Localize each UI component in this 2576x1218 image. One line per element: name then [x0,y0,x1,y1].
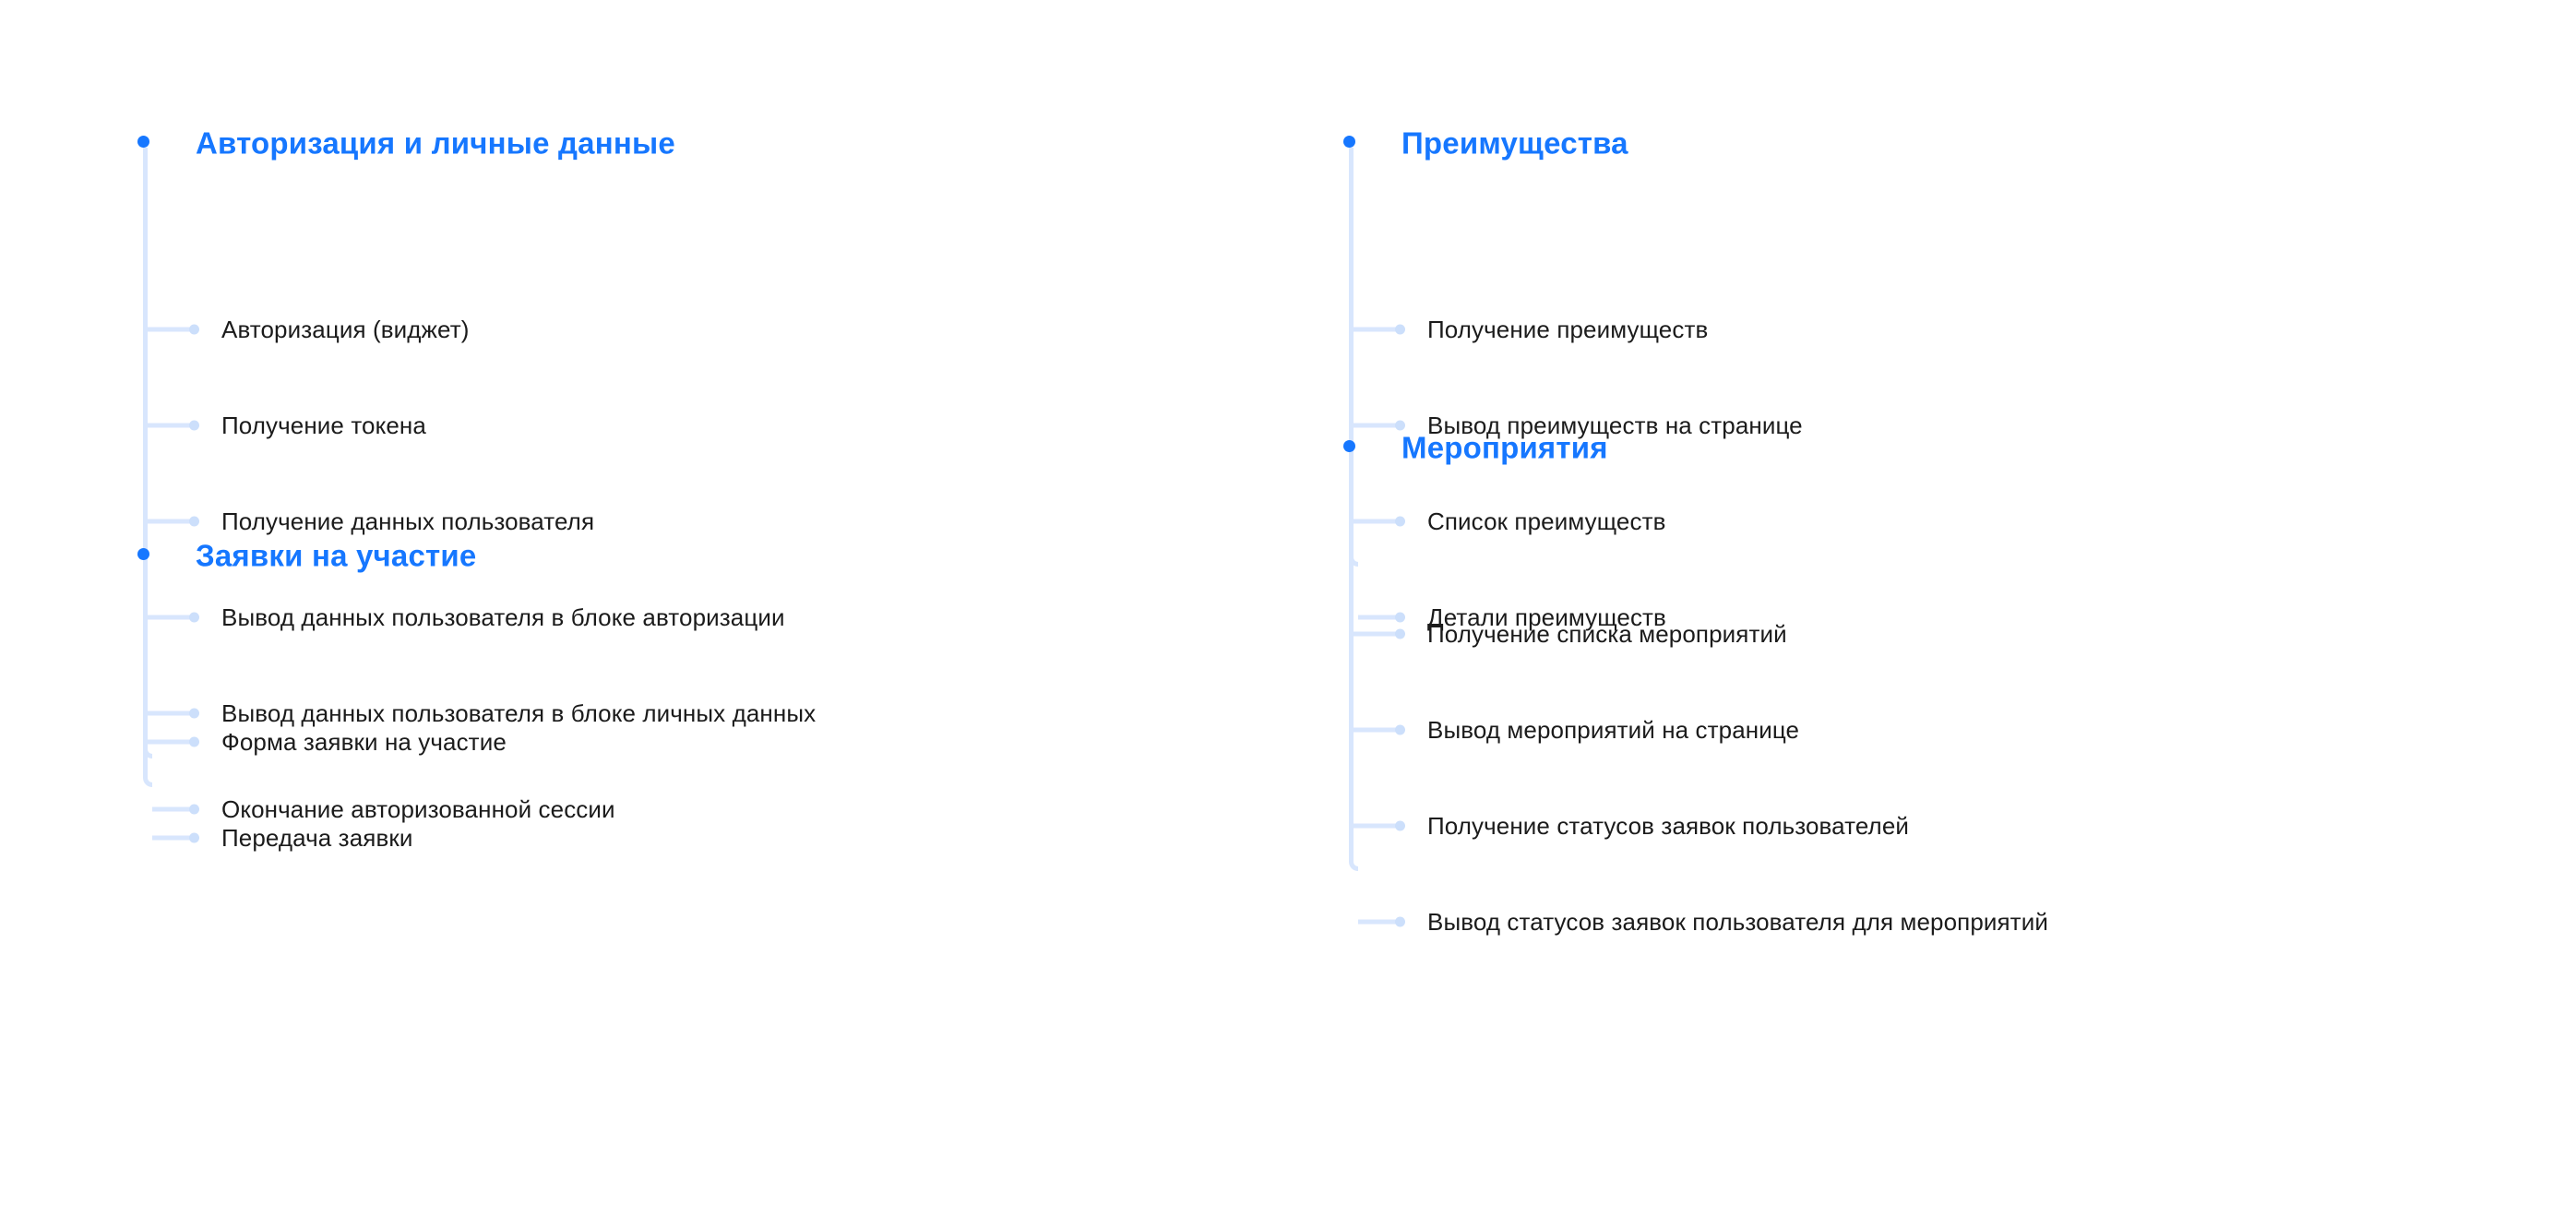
item-dot-icon [189,517,199,527]
group-title: Заявки на участие [196,541,476,571]
item-dot-icon [1395,917,1405,927]
item-dot-icon [189,737,199,747]
item-dot-icon [189,805,199,815]
item-dot-icon [1395,421,1405,431]
item-connector-line [143,711,195,716]
item-label: Список преимуществ [1427,509,1666,533]
item-dot-icon [1395,629,1405,639]
item-dot-icon [1395,325,1405,335]
item-label: Вывод мероприятий на странице [1427,718,1799,742]
item-connector-line [143,424,195,428]
item-dot-icon [189,325,199,335]
item-dot-icon [189,421,199,431]
item-label: Вывод данных пользователя в блоке личных… [221,701,816,725]
item-label: Получение списка мероприятий [1427,622,1787,646]
group-title: Авторизация и личные данные [196,128,675,159]
outline-board: Авторизация и личные данныеАвторизация (… [0,0,2576,1218]
item-dot-icon [1395,725,1405,735]
item-label: Получение данных пользователя [221,509,594,533]
item-connector-line [143,740,195,745]
item-dot-icon [1395,517,1405,527]
item-dot-icon [189,833,199,843]
bullet-icon [137,548,149,560]
item-connector-line [1349,424,1401,428]
item-label: Получение статусов заявок пользователей [1427,814,1909,838]
item-connector-line [143,328,195,332]
bullet-icon [137,136,149,148]
tree-trunk-line [1349,452,1354,855]
group-title: Преимущества [1401,128,1628,159]
item-connector-line [143,615,195,620]
bullet-icon [1343,136,1355,148]
item-connector-line [1349,519,1401,524]
item-connector-line [143,519,195,524]
item-dot-icon [1395,821,1405,831]
group-title: Мероприятия [1401,433,1608,463]
item-label: Вывод данных пользователя в блоке автори… [221,605,785,629]
item-dot-icon [189,613,199,623]
item-connector-line [1349,328,1401,332]
item-dot-icon [189,709,199,719]
item-connector-line [1349,728,1401,733]
item-dot-icon [1395,613,1405,623]
tree-elbow-corner [1349,854,1358,871]
item-label: Получение токена [221,413,426,437]
item-connector-line [1349,632,1401,637]
item-label: Окончание авторизованной сессии [221,797,615,821]
item-label: Передача заявки [221,826,412,850]
item-label: Форма заявки на участие [221,730,507,754]
bullet-icon [1343,440,1355,452]
item-label: Авторизация (виджет) [221,317,469,341]
item-label: Вывод статусов заявок пользователя для м… [1427,910,2048,934]
tree-elbow-corner [143,770,152,787]
item-connector-line [1349,824,1401,829]
item-label: Получение преимуществ [1427,317,1708,341]
